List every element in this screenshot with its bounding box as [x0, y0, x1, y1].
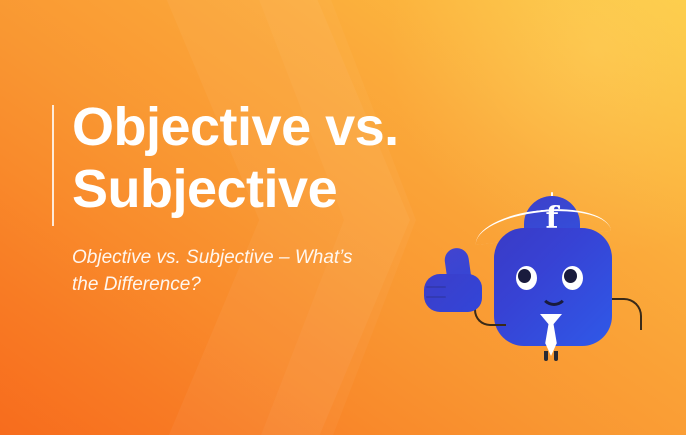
- mascot-left-eye: [516, 266, 537, 290]
- thumb-crease-1: [426, 286, 446, 288]
- mascot-left-leg: [544, 351, 548, 361]
- page-subtitle-line-1: Objective vs. Subjective – What’s: [72, 244, 402, 271]
- thumb-fist: [424, 274, 482, 312]
- left-pupil: [518, 269, 531, 283]
- slide-canvas: Objective vs. Subjective Objective vs. S…: [0, 0, 686, 435]
- thumbs-up-icon: [424, 248, 486, 312]
- facebook-mascot-character: f: [418, 186, 668, 386]
- mascot-right-eye: [562, 266, 583, 290]
- page-subtitle: Objective vs. Subjective – What’s the Di…: [72, 244, 402, 298]
- right-pupil: [564, 269, 577, 283]
- title-accent-bar: [52, 105, 54, 226]
- thumb-crease-2: [426, 296, 446, 298]
- page-title-line-1: Objective vs.: [72, 96, 502, 158]
- mascot-right-leg: [554, 351, 558, 361]
- page-subtitle-line-2: the Difference?: [72, 271, 402, 298]
